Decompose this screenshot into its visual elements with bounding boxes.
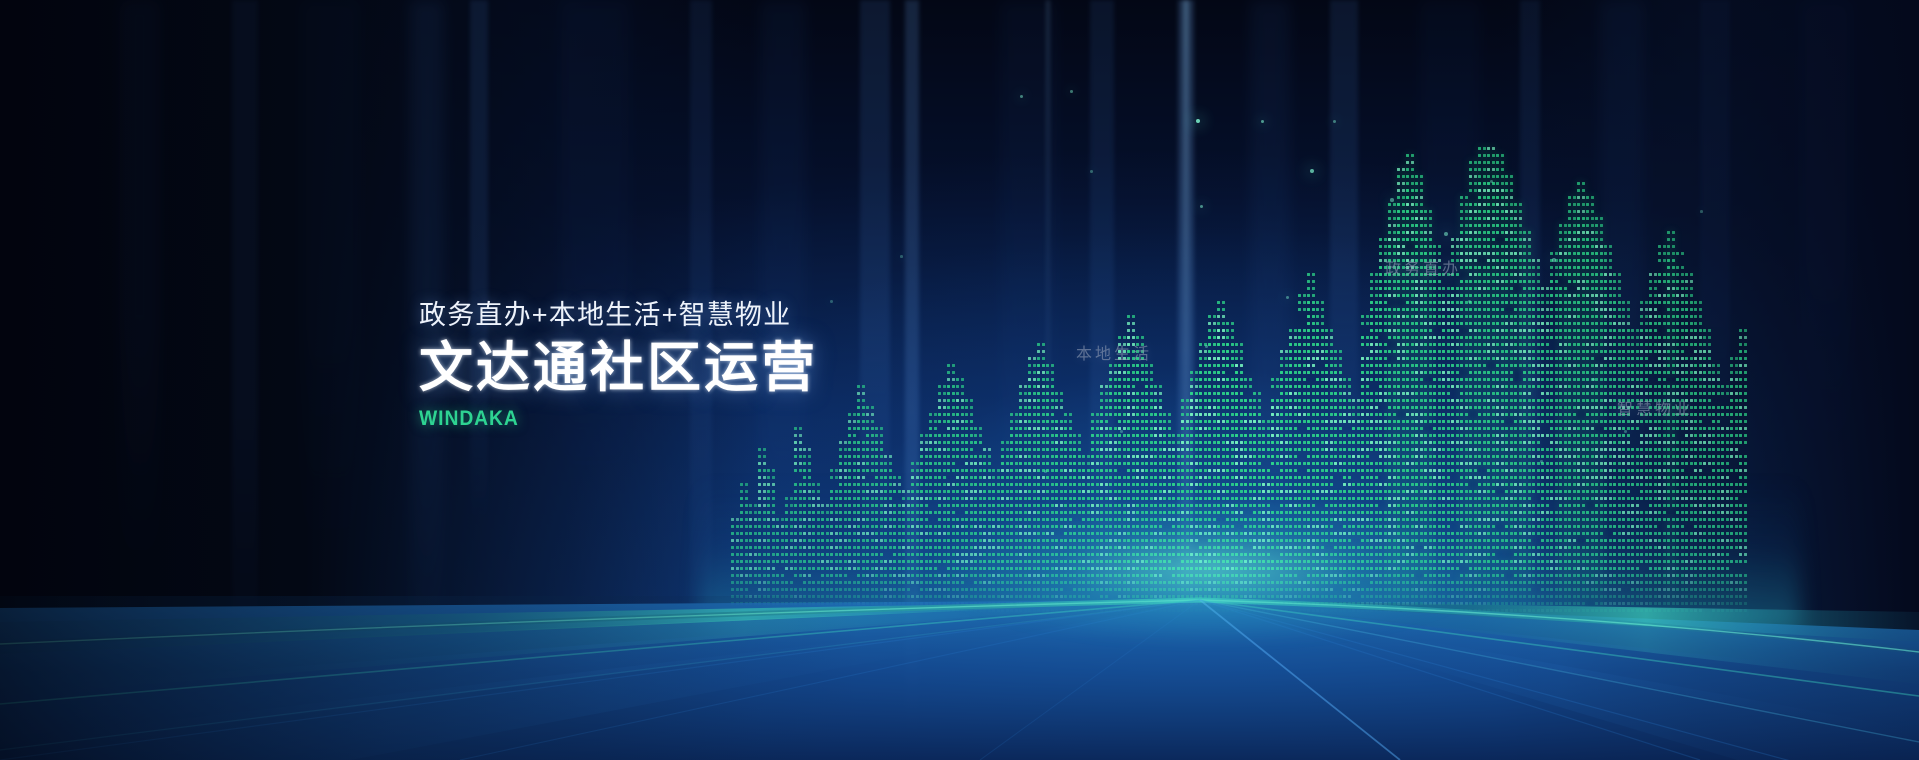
bar-dot: [1199, 406, 1202, 409]
bar-dot: [844, 455, 847, 458]
bar-dot: [947, 378, 950, 381]
bar-dot: [934, 420, 937, 423]
bar-dot: [1375, 469, 1378, 472]
bar-dot: [1199, 462, 1202, 465]
bar-dot: [952, 469, 955, 472]
bar-dot: [1397, 399, 1400, 402]
bar-dot: [1235, 469, 1238, 472]
bar-dot: [1312, 301, 1315, 304]
bar-dot: [1096, 420, 1099, 423]
bar-dot: [943, 462, 946, 465]
bar-dot: [1285, 434, 1288, 437]
bar-dot: [1181, 420, 1184, 423]
bar-dot: [1343, 448, 1346, 451]
bar-dot: [1145, 490, 1148, 493]
bar-dot: [1190, 378, 1193, 381]
bar-dot: [1402, 357, 1405, 360]
bar-dot: [1118, 462, 1121, 465]
bar-dot: [1312, 322, 1315, 325]
bar-dot: [1298, 350, 1301, 353]
bar-dot: [911, 504, 914, 507]
bar-dot: [1339, 406, 1342, 409]
bar-dot: [1280, 357, 1283, 360]
bar-dot: [763, 497, 766, 500]
bar-dot: [1150, 413, 1153, 416]
bar-dot: [1069, 420, 1072, 423]
bar-dot: [1357, 483, 1360, 486]
bar-dot: [1397, 308, 1400, 311]
bar-dot: [866, 511, 869, 514]
bar-dot: [1154, 385, 1157, 388]
bar-dot: [1415, 196, 1418, 199]
bar-dot: [1312, 483, 1315, 486]
bar-dot: [1132, 322, 1135, 325]
bar-dot: [1262, 427, 1265, 430]
bar-dot: [956, 420, 959, 423]
bar-dot: [1235, 399, 1238, 402]
bar-dot: [1406, 420, 1409, 423]
bar-dot: [1307, 392, 1310, 395]
bar-dot: [898, 525, 901, 528]
bar-dot: [1316, 455, 1319, 458]
bar-dot: [1208, 364, 1211, 367]
bar-dot: [1361, 371, 1364, 374]
bar-dot: [1361, 406, 1364, 409]
bar-dot: [974, 490, 977, 493]
bar-dot: [1415, 210, 1418, 213]
bar-dot: [1087, 469, 1090, 472]
bar-dot: [857, 448, 860, 451]
bar-dot: [812, 504, 815, 507]
bar-dot: [835, 490, 838, 493]
bar-dot: [799, 469, 802, 472]
bar-dot: [1375, 483, 1378, 486]
bar-dot: [1321, 308, 1324, 311]
bar-dot: [1136, 455, 1139, 458]
bar-dot: [1195, 378, 1198, 381]
bar-dot: [1127, 462, 1130, 465]
bar-dot: [1213, 343, 1216, 346]
bar-dot: [853, 462, 856, 465]
bar-dot: [1150, 385, 1153, 388]
bar-dot: [970, 462, 973, 465]
bar-dot: [1420, 231, 1423, 234]
bar-dot: [1361, 357, 1364, 360]
bar-dot: [929, 427, 932, 430]
bar-dot: [1150, 392, 1153, 395]
bar-dot: [1015, 413, 1018, 416]
bar-dot: [956, 476, 959, 479]
bar-dot: [1384, 490, 1387, 493]
bar-dot: [1226, 441, 1229, 444]
bar-dot: [844, 504, 847, 507]
bar-dot: [952, 371, 955, 374]
bar-dot: [1267, 483, 1270, 486]
bar-dot: [1069, 413, 1072, 416]
bar-dot: [1195, 469, 1198, 472]
bar-dot: [979, 469, 982, 472]
bar-dot: [1073, 476, 1076, 479]
bar-dot: [1231, 462, 1234, 465]
bar-dot: [1069, 441, 1072, 444]
bar-dot: [1028, 371, 1031, 374]
bar-dot: [943, 420, 946, 423]
bar-dot: [1249, 469, 1252, 472]
bar-dot: [893, 518, 896, 521]
bar-dot: [970, 476, 973, 479]
bar-dot: [1276, 420, 1279, 423]
bar-dot: [1298, 420, 1301, 423]
bar-dot: [1069, 448, 1072, 451]
bar-dot: [1222, 357, 1225, 360]
bar-dot: [1370, 462, 1373, 465]
bar-dot: [1163, 469, 1166, 472]
bar-dot: [1015, 490, 1018, 493]
bar-dot: [1217, 315, 1220, 318]
bar-dot: [1352, 441, 1355, 444]
bar-dot: [1307, 329, 1310, 332]
bar-dot: [835, 525, 838, 528]
bar-dot: [1303, 490, 1306, 493]
bar-dot: [1204, 371, 1207, 374]
bar-dot: [1393, 441, 1396, 444]
bar-dot: [1330, 420, 1333, 423]
bar-dot: [1343, 413, 1346, 416]
bar-dot: [1388, 350, 1391, 353]
bar-dot: [1132, 469, 1135, 472]
bar-dot: [1375, 378, 1378, 381]
bar-dot: [934, 490, 937, 493]
bar-dot: [1289, 469, 1292, 472]
bar-dot: [938, 406, 941, 409]
bar-dot: [1393, 392, 1396, 395]
bar-dot: [1348, 385, 1351, 388]
bar-dot: [1303, 399, 1306, 402]
bar-dot: [857, 399, 860, 402]
bar-dot: [1370, 350, 1373, 353]
bar-dot: [961, 406, 964, 409]
bar-dot: [1294, 357, 1297, 360]
bar-dot: [794, 497, 797, 500]
bar-dot: [1271, 476, 1274, 479]
bar-dot: [1240, 441, 1243, 444]
bar-dot: [866, 441, 869, 444]
bar-dot: [1213, 483, 1216, 486]
bar-dot: [1357, 455, 1360, 458]
bar-dot: [871, 525, 874, 528]
bar-dot: [1042, 385, 1045, 388]
bar-dot: [1312, 350, 1315, 353]
bar-dot: [1073, 441, 1076, 444]
bar-dot: [1361, 469, 1364, 472]
bar-dot: [875, 511, 878, 514]
bar-dot: [1303, 378, 1306, 381]
bar-dot: [1334, 378, 1337, 381]
bar-dot: [1046, 364, 1049, 367]
bar-dot: [839, 518, 842, 521]
bar-dot: [1051, 420, 1054, 423]
bar-dot: [1298, 490, 1301, 493]
bar-dot: [1253, 406, 1256, 409]
bar-dot: [938, 420, 941, 423]
bar-dot: [857, 518, 860, 521]
bar-dot: [1253, 420, 1256, 423]
bar-dot: [1253, 476, 1256, 479]
bar-dot: [1411, 392, 1414, 395]
bar-dot: [1010, 434, 1013, 437]
bar-dot: [1100, 399, 1103, 402]
bar-dot: [1042, 455, 1045, 458]
bar-dot: [889, 525, 892, 528]
bar-dot: [871, 455, 874, 458]
bar-dot: [1415, 385, 1418, 388]
bar-dot: [929, 490, 932, 493]
bar-dot: [1285, 350, 1288, 353]
bar-dot: [763, 504, 766, 507]
bar-dot: [1217, 427, 1220, 430]
bar-dot: [1231, 490, 1234, 493]
bar-dot: [1123, 336, 1126, 339]
bar-dot: [1123, 399, 1126, 402]
bar-dot: [1042, 476, 1045, 479]
bar-dot: [1397, 483, 1400, 486]
bar-dot: [1352, 413, 1355, 416]
bar-dot: [1136, 462, 1139, 465]
bar-dot: [758, 504, 761, 507]
bar-dot: [1370, 343, 1373, 346]
bar-dot: [925, 448, 928, 451]
bar-dot: [1330, 399, 1333, 402]
bar-dot: [956, 399, 959, 402]
bar-dot: [857, 427, 860, 430]
bar-dot: [1051, 462, 1054, 465]
bar-dot: [875, 525, 878, 528]
bar-dot: [767, 525, 770, 528]
bar-dot: [1258, 448, 1261, 451]
bar-dot: [947, 385, 950, 388]
bar-dot: [1127, 455, 1130, 458]
bar-dot: [1379, 301, 1382, 304]
bar-dot: [1240, 469, 1243, 472]
bar-dot: [1208, 371, 1211, 374]
bar-dot: [1033, 483, 1036, 486]
bar-dot: [1321, 301, 1324, 304]
bar-dot: [1150, 420, 1153, 423]
bar-dot: [866, 469, 869, 472]
bar-dot: [839, 476, 842, 479]
bar-dot: [808, 455, 811, 458]
bar-dot: [1181, 413, 1184, 416]
bar-dot: [839, 448, 842, 451]
bar-dot: [1136, 476, 1139, 479]
bar-dot: [1375, 392, 1378, 395]
bar-dot: [1397, 455, 1400, 458]
bar-dot: [1307, 469, 1310, 472]
bar-dot: [979, 483, 982, 486]
bar-dot: [1312, 364, 1315, 367]
bar-dot: [1411, 308, 1414, 311]
bar-dot: [1109, 364, 1112, 367]
bar-dot: [1379, 287, 1382, 290]
bar-dot: [970, 434, 973, 437]
bar-dot: [857, 490, 860, 493]
bar-dot: [1271, 490, 1274, 493]
bar-dot: [1406, 350, 1409, 353]
bar-dot: [1366, 371, 1369, 374]
bar-dot: [1042, 350, 1045, 353]
bar-dot: [1312, 329, 1315, 332]
bar-dot: [772, 476, 775, 479]
bar-dot: [1321, 427, 1324, 430]
bar-dot: [1375, 329, 1378, 332]
bar-dot: [1352, 490, 1355, 493]
bar-dot: [749, 511, 752, 514]
bar-dot: [1213, 364, 1216, 367]
bar-dot: [871, 462, 874, 465]
bar-dot: [970, 399, 973, 402]
bar-dot: [1411, 294, 1414, 297]
bar-dot: [1334, 434, 1337, 437]
bar-dot: [1114, 434, 1117, 437]
bar-dot: [857, 441, 860, 444]
bar-dot: [1420, 455, 1423, 458]
bar-dot: [857, 413, 860, 416]
bar-dot: [1154, 476, 1157, 479]
bar-dot: [1312, 308, 1315, 311]
bar-dot: [1321, 413, 1324, 416]
bar-dot: [1361, 343, 1364, 346]
bar-dot: [1118, 399, 1121, 402]
bar-dot: [1222, 301, 1225, 304]
bar-dot: [974, 462, 977, 465]
bar-dot: [1411, 357, 1414, 360]
bar-dot: [1411, 476, 1414, 479]
bar-dot: [1082, 462, 1085, 465]
bar-dot: [1163, 413, 1166, 416]
bar-dot: [1100, 462, 1103, 465]
bar-dot: [1294, 476, 1297, 479]
bar-dot: [1285, 490, 1288, 493]
bar-dot: [1217, 322, 1220, 325]
bar-dot: [1253, 490, 1256, 493]
bar-dot: [1150, 399, 1153, 402]
bar-dot: [1294, 483, 1297, 486]
bar-dot: [952, 399, 955, 402]
bar-dot: [884, 525, 887, 528]
bar-dot: [1127, 476, 1130, 479]
bar-dot: [1145, 434, 1148, 437]
bar-dot: [1141, 462, 1144, 465]
bar-dot: [1280, 448, 1283, 451]
bar-dot: [1051, 427, 1054, 430]
bar-dot: [772, 504, 775, 507]
bar-dot: [1415, 448, 1418, 451]
bar-dot: [758, 525, 761, 528]
bar-dot: [1019, 462, 1022, 465]
bar-dot: [785, 511, 788, 514]
bar-dot: [1312, 273, 1315, 276]
bar-dot: [1114, 490, 1117, 493]
bar-dot: [1370, 329, 1373, 332]
bar-dot: [889, 511, 892, 514]
bar-dot: [979, 490, 982, 493]
bar-dot: [1289, 490, 1292, 493]
bar-dot: [1037, 441, 1040, 444]
bar-dot: [1411, 329, 1414, 332]
bar-dot: [853, 497, 856, 500]
bar-dot: [1307, 280, 1310, 283]
bar-dot: [1393, 371, 1396, 374]
bar-dot: [1303, 350, 1306, 353]
bar-dot: [1339, 490, 1342, 493]
bar-dot: [1186, 476, 1189, 479]
bar-dot: [1312, 287, 1315, 290]
bar-dot: [1235, 343, 1238, 346]
bar-dot: [1411, 371, 1414, 374]
bar-dot: [1397, 385, 1400, 388]
bar-dot: [1379, 238, 1382, 241]
bar-dot: [952, 462, 955, 465]
bar-dot: [1226, 483, 1229, 486]
bar-dot: [866, 518, 869, 521]
bar-dot: [1289, 448, 1292, 451]
bar-dot: [848, 462, 851, 465]
bar-dot: [1393, 413, 1396, 416]
bar-dot: [1222, 406, 1225, 409]
bar-dot: [1109, 392, 1112, 395]
bar-dot: [1415, 350, 1418, 353]
bar-dot: [758, 518, 761, 521]
bar-dot: [1159, 469, 1162, 472]
bar-dot: [848, 483, 851, 486]
bar-dot: [871, 441, 874, 444]
bar-dot: [929, 455, 932, 458]
bar-dot: [1312, 476, 1315, 479]
bar-dot: [1118, 413, 1121, 416]
bar-dot: [1411, 399, 1414, 402]
bar-dot: [1240, 413, 1243, 416]
bar-dot: [1406, 364, 1409, 367]
bar-dot: [1127, 385, 1130, 388]
bar-dot: [1420, 203, 1423, 206]
bar-dot: [1312, 469, 1315, 472]
bar-dot: [1127, 329, 1130, 332]
bar-dot: [1267, 469, 1270, 472]
bar-dot: [956, 490, 959, 493]
bar-dot: [1028, 490, 1031, 493]
bar-dot: [812, 497, 815, 500]
bar-dot: [1316, 329, 1319, 332]
bar-dot: [1379, 329, 1382, 332]
bar-dot: [1141, 434, 1144, 437]
bar-dot: [1375, 399, 1378, 402]
bar-dot: [866, 413, 869, 416]
bar-dot: [1100, 483, 1103, 486]
bar-dot: [1267, 476, 1270, 479]
bar-dot: [1262, 455, 1265, 458]
bar-dot: [974, 483, 977, 486]
bar-dot: [808, 504, 811, 507]
bar-dot: [911, 483, 914, 486]
bar-dot: [1213, 462, 1216, 465]
bar-dot: [794, 483, 797, 486]
bar-dot: [1136, 420, 1139, 423]
bar-dot: [830, 490, 833, 493]
bar-dot: [943, 469, 946, 472]
bar-dot: [1325, 392, 1328, 395]
bar-dot: [1294, 490, 1297, 493]
bar-dot: [1406, 413, 1409, 416]
